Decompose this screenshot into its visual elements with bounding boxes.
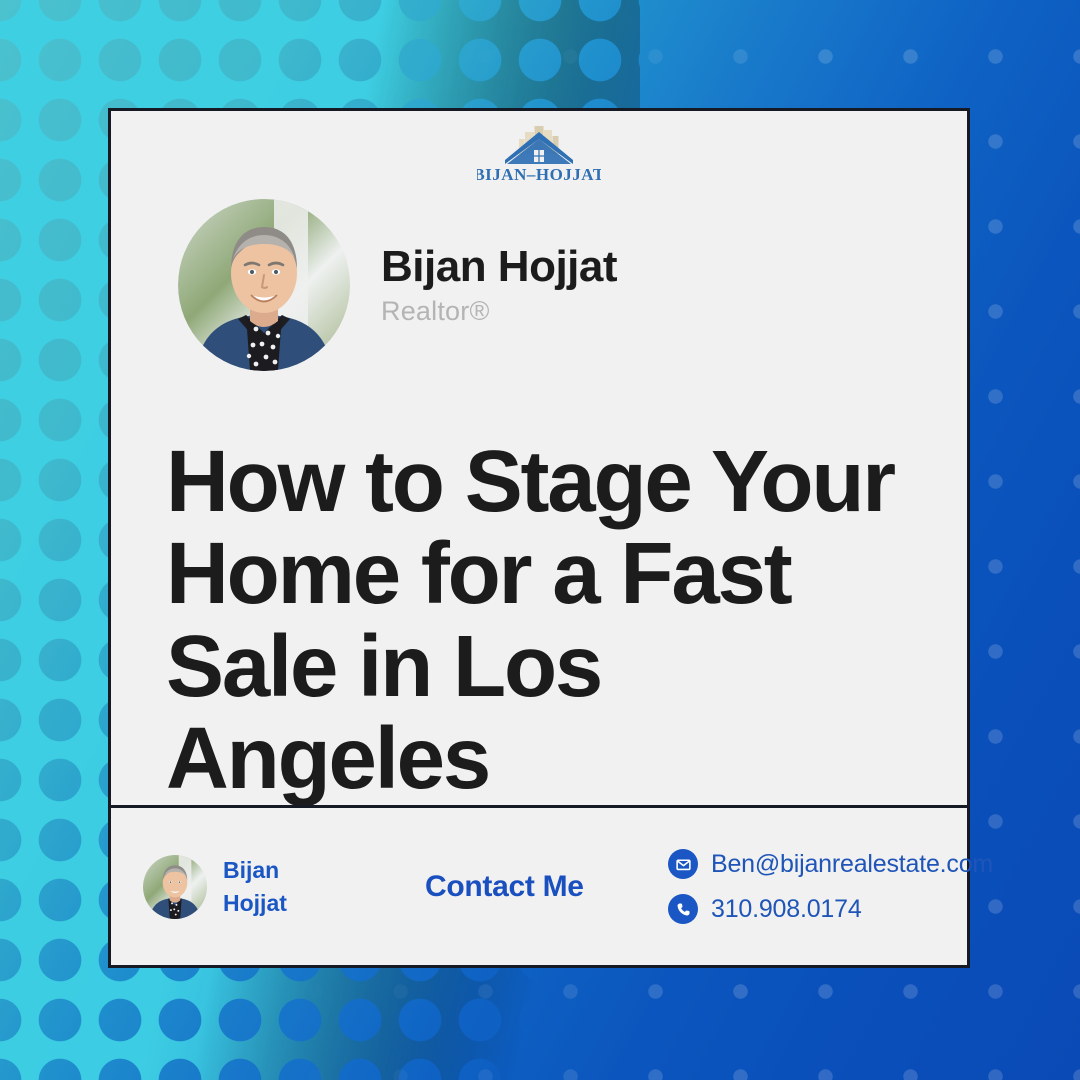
page-title: How to Stage Your Home for a Fast Sale i… (111, 378, 967, 805)
phone-icon (668, 894, 698, 924)
profile-role: Realtor® (381, 296, 617, 327)
footer-brand-name-line2: Hojjat (223, 887, 287, 920)
poster-background: BIJAN–HOJJAT (0, 0, 1080, 1080)
headshot-photo-small (143, 855, 207, 919)
footer-brand-name: Bijan Hojjat (223, 854, 287, 919)
headshot-photo (178, 199, 350, 371)
contact-list: Ben@bijanrealestate.com 310.908.0174 (668, 849, 993, 924)
svg-text:BIJAN–HOJJAT: BIJAN–HOJJAT (477, 165, 601, 184)
content-card: BIJAN–HOJJAT (108, 108, 970, 968)
profile-block: Bijan Hojjat Realtor® (111, 193, 967, 378)
contact-email[interactable]: Ben@bijanrealestate.com (668, 849, 993, 879)
footer-brand: Bijan Hojjat (143, 854, 425, 919)
contact-me-label[interactable]: Contact Me (425, 870, 668, 904)
contact-phone-value: 310.908.0174 (711, 895, 862, 924)
brand-logo-icon: BIJAN–HOJJAT (477, 122, 601, 184)
profile-name: Bijan Hojjat (381, 244, 617, 290)
contact-email-value: Ben@bijanrealestate.com (711, 850, 993, 879)
contact-phone[interactable]: 310.908.0174 (668, 894, 993, 924)
brand-logo[interactable]: BIJAN–HOJJAT (111, 111, 967, 189)
envelope-icon (668, 849, 698, 879)
footer: Bijan Hojjat Contact Me Ben@bijanrealest… (111, 808, 967, 965)
footer-brand-name-line1: Bijan (223, 854, 287, 887)
footer-avatar (143, 855, 207, 919)
avatar (178, 199, 350, 371)
